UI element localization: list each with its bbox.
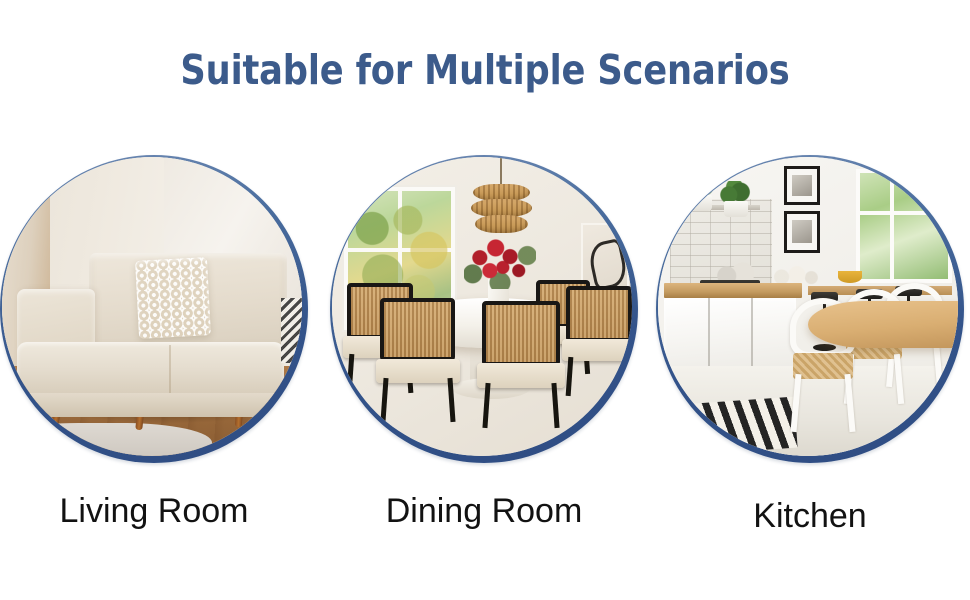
- scene-label-dining-room: Dining Room: [330, 492, 638, 531]
- fruit-bowl: [838, 271, 862, 283]
- scene-card-living-room[interactable]: [0, 155, 308, 463]
- scene-card-dining-room[interactable]: [330, 155, 638, 463]
- throw-pillow: [135, 257, 211, 338]
- plant-pot: [724, 201, 747, 217]
- scene-photo-living-room: [2, 157, 302, 456]
- scene-label-kitchen: Kitchen: [656, 497, 964, 536]
- potted-plant: [682, 178, 718, 211]
- plant-pot: [688, 195, 711, 211]
- cookware: [715, 259, 757, 283]
- chair-cane-back: [380, 298, 455, 362]
- area-rug: [2, 423, 212, 456]
- scene-card-kitchen[interactable]: [656, 155, 964, 463]
- framed-art: [784, 166, 820, 205]
- pendant-tier: [475, 215, 527, 232]
- wood-countertop: [664, 283, 802, 298]
- promo-banner: Suitable for Multiple Scenarios: [0, 0, 970, 600]
- storage-jars: [772, 256, 820, 286]
- window: [856, 169, 952, 283]
- chair-cane-back: [482, 301, 560, 366]
- scene-photo-kitchen: [658, 157, 958, 456]
- potted-plant: [718, 184, 754, 217]
- chair-legs: [790, 374, 856, 432]
- scene-photo-dining-room: [332, 157, 632, 456]
- dining-chair: [482, 301, 560, 427]
- wood-dining-table: [808, 301, 958, 349]
- sofa-seat-cushion: [17, 342, 284, 399]
- chair-cane-back: [566, 286, 632, 342]
- rattan-pendant-light: [473, 184, 530, 235]
- chair-legs: [566, 357, 632, 396]
- scene-label-living-room: Living Room: [0, 492, 308, 531]
- striped-runner-rug: [658, 397, 798, 456]
- dining-chair: [566, 286, 632, 394]
- dining-chair: [380, 298, 455, 421]
- chair-legs: [380, 378, 455, 422]
- chair-legs: [482, 383, 560, 428]
- red-rose-bouquet: [464, 235, 536, 289]
- patterned-textile: [281, 298, 302, 364]
- framed-art: [784, 211, 820, 253]
- sofa-base: [20, 393, 281, 417]
